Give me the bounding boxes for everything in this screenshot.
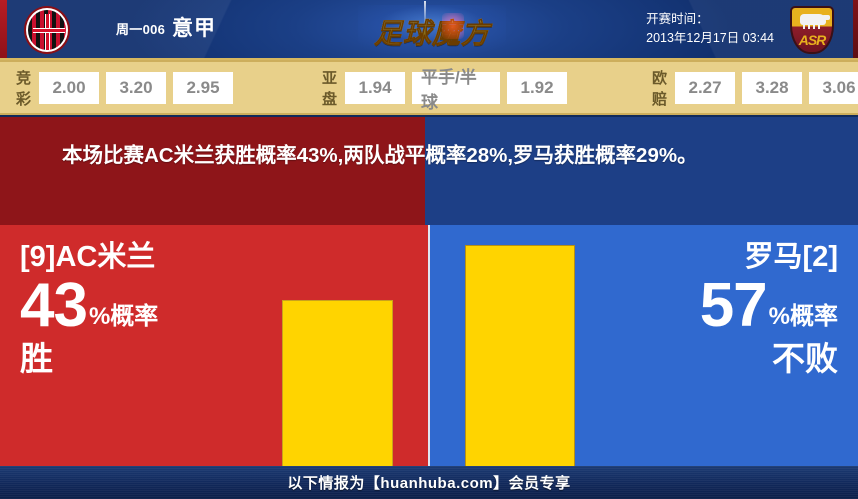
odds-cell[interactable]: 2.95 <box>173 72 233 104</box>
away-probability-bar <box>465 245 575 466</box>
header-left-accent <box>0 0 7 60</box>
odds-cell[interactable]: 2.00 <box>39 72 99 104</box>
odds-group-oupei: 欧赔 2.27 3.28 3.06 <box>652 67 858 109</box>
odds-cell[interactable]: 1.92 <box>507 72 567 104</box>
home-probability-bar <box>282 300 393 466</box>
kickoff-value: 2013年12月17日 03:44 <box>646 29 774 48</box>
brand-logo-text: 足球魔方 <box>358 12 506 52</box>
away-probability-row: 57 %概率 <box>583 273 838 339</box>
ac-milan-crest-icon <box>24 6 70 54</box>
home-outcome-label: 胜 <box>20 339 270 379</box>
away-probability-suffix: %概率 <box>769 296 838 331</box>
away-outcome-label: 不败 <box>583 339 838 379</box>
odds-group-label: 亚盘 <box>322 67 338 109</box>
kickoff-time-block: 开赛时间： 2013年12月17日 03:44 <box>646 10 774 48</box>
league-name: 意甲 <box>172 12 216 42</box>
home-team-name: [9]AC米兰 <box>20 239 270 275</box>
match-header: 周一006 意甲 足球魔方 开赛时间： 2013年12月17日 03:44 AS… <box>0 0 858 60</box>
away-probability-value: 57 <box>700 273 767 339</box>
probability-summary-band: 本场比赛AC米兰获胜概率43%,两队战平概率28%,罗马获胜概率29%。 <box>0 117 858 225</box>
odds-cell[interactable]: 2.27 <box>675 72 735 104</box>
crest-oval <box>24 6 70 54</box>
probability-chart: [9]AC米兰 43 %概率 胜 罗马[2] 57 %概率 不败 <box>0 225 858 466</box>
odds-group-label: 欧赔 <box>652 67 668 109</box>
odds-cell[interactable]: 3.28 <box>742 72 802 104</box>
membership-footer: 以下情报为【huanhuba.com】会员专享 <box>0 466 858 499</box>
home-team-block: [9]AC米兰 43 %概率 胜 <box>20 239 270 379</box>
home-probability-suffix: %概率 <box>89 296 158 331</box>
odds-cell[interactable]: 1.94 <box>345 72 405 104</box>
as-roma-crest-icon: ASR <box>790 6 834 54</box>
odds-cell[interactable]: 3.06 <box>809 72 858 104</box>
odds-group-yapan: 亚盘 1.94 平手/半球 1.92 <box>322 67 574 109</box>
roma-monogram: ASR <box>792 32 832 48</box>
header-right-accent <box>853 0 858 60</box>
crest-cross-horizontal <box>33 28 65 33</box>
odds-bar: 竞彩 2.00 3.20 2.95 亚盘 1.94 平手/半球 1.92 欧赔 … <box>0 60 858 115</box>
kickoff-label: 开赛时间： <box>646 10 774 29</box>
away-team-name: 罗马[2] <box>583 239 838 275</box>
summary-text: 本场比赛AC米兰获胜概率43%,两队战平概率28%,罗马获胜概率29%。 <box>62 139 802 172</box>
panel-divider <box>428 225 430 466</box>
odds-cell[interactable]: 3.20 <box>106 72 166 104</box>
crest-shield: ASR <box>790 6 834 54</box>
home-probability-row: 43 %概率 <box>20 273 270 339</box>
home-probability-value: 43 <box>20 273 87 339</box>
she-wolf-icon <box>800 14 826 25</box>
odds-group-label: 竞彩 <box>16 67 32 109</box>
site-brand-logo[interactable]: 足球魔方 <box>358 5 506 53</box>
away-team-block: 罗马[2] 57 %概率 不败 <box>583 239 838 379</box>
odds-cell-handicap[interactable]: 平手/半球 <box>412 72 500 104</box>
match-probability-infographic: 周一006 意甲 足球魔方 开赛时间： 2013年12月17日 03:44 AS… <box>0 0 858 499</box>
odds-group-jingcai: 竞彩 2.00 3.20 2.95 <box>16 67 240 109</box>
match-round-label: 周一006 <box>116 19 165 38</box>
footer-text: 以下情报为【huanhuba.com】会员专享 <box>287 472 570 493</box>
